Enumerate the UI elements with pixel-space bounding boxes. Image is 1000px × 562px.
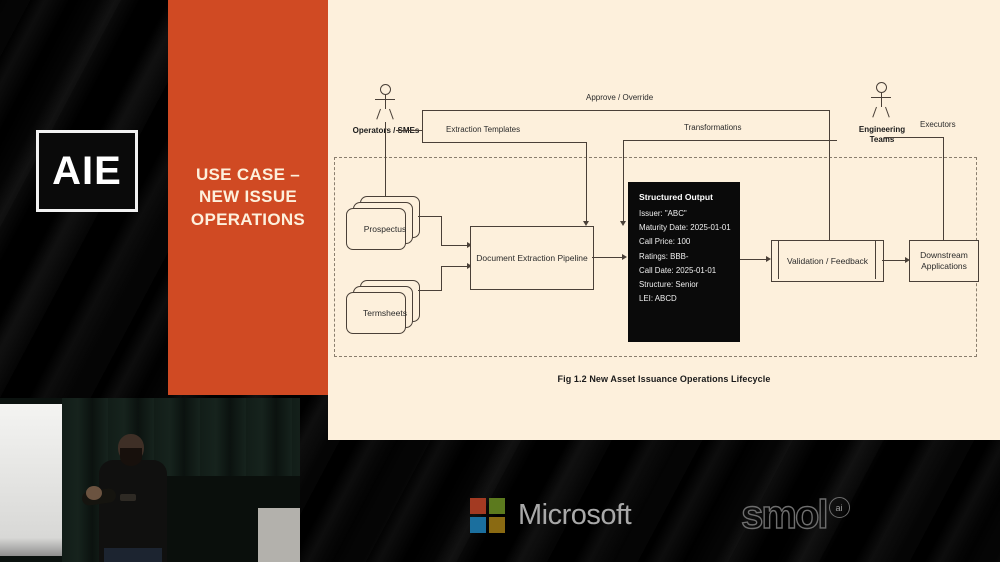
- node-downstream-applications[interactable]: Downstream Applications: [909, 240, 979, 282]
- edge-output-to-validation: [740, 259, 768, 260]
- speaker-hand: [86, 486, 102, 500]
- smol-wordmark: smol: [741, 495, 826, 535]
- smol-ai-logo: smol ai: [741, 495, 849, 535]
- edge-prospectus-v: [441, 216, 442, 245]
- smol-ai-badge: ai: [829, 497, 850, 518]
- node-downstream-label-line-1: Downstream: [920, 250, 968, 261]
- section-title: USE CASE – NEW ISSUE OPERATIONS: [185, 164, 311, 231]
- microsoft-tile-1: [470, 498, 486, 514]
- edge-approve-down: [829, 110, 830, 245]
- actor-operators-label: Operators / SMEs: [348, 126, 424, 136]
- edge-termsheets-v: [441, 266, 442, 291]
- aie-logo: AIE: [36, 130, 138, 212]
- actor-engineering-label: Engineering Teams: [840, 125, 924, 145]
- structured-output-field: Structure: Senior: [639, 280, 729, 289]
- microsoft-tile-2: [489, 498, 505, 514]
- structured-output-card: Structured Output Issuer: "ABC" Maturity…: [628, 182, 740, 342]
- structured-output-field: Ratings: BBB-: [639, 252, 729, 261]
- structured-output-field: Maturity Date: 2025-01-01: [639, 223, 729, 232]
- edge-transform-down: [623, 140, 624, 223]
- edge-approve-h: [422, 110, 830, 111]
- section-title-panel: USE CASE – NEW ISSUE OPERATIONS: [168, 0, 328, 395]
- doc-termsheets-label: Termsheets: [346, 308, 424, 318]
- slide-canvas: Operators / SMEs Engineering Teams Appro…: [328, 0, 1000, 440]
- edge-pipeline-to-output: [592, 257, 624, 258]
- speaker-beard: [120, 448, 142, 466]
- edge-prospectus-h1: [418, 216, 442, 217]
- podium: [258, 508, 300, 562]
- microsoft-tile-4: [489, 517, 505, 533]
- edge-approve-override-label: Approve / Override: [586, 93, 653, 102]
- actor-engineering-figure: [868, 82, 894, 122]
- edge-extract-h: [422, 142, 586, 143]
- figure-caption: Fig 1.2 New Asset Issuance Operations Li…: [328, 374, 1000, 384]
- microsoft-squares-icon: [470, 498, 505, 533]
- edge-approve-left-stub: [422, 110, 423, 130]
- structured-output-field: LEI: ABCD: [639, 294, 729, 303]
- actor-operators-figure: [372, 84, 398, 124]
- node-validation-label: Validation / Feedback: [787, 256, 868, 267]
- structured-output-field: Call Price: 100: [639, 237, 729, 246]
- validation-divider-left: [778, 241, 779, 279]
- validation-divider-right: [875, 241, 876, 279]
- microsoft-tile-3: [470, 517, 486, 533]
- speaker-torso: [99, 460, 167, 562]
- actor-engineering-label-line-1: Engineering: [840, 125, 924, 135]
- lifecycle-diagram: Operators / SMEs Engineering Teams Appro…: [328, 0, 1000, 440]
- edge-extract-stub-v: [422, 130, 423, 142]
- aie-logo-text: AIE: [52, 151, 122, 191]
- edge-prospectus-h2: [441, 245, 468, 246]
- arrowhead-pipeline-output: [622, 254, 627, 260]
- node-pipeline-label: Document Extraction Pipeline: [476, 253, 588, 264]
- projection-screen: [0, 404, 62, 556]
- doc-prospectus: Prospectus: [346, 196, 424, 256]
- arrowhead-transform: [620, 221, 626, 226]
- section-title-line-1: USE CASE –: [191, 164, 305, 186]
- edge-transformations-label: Transformations: [684, 123, 742, 132]
- edge-extraction-templates-label: Extraction Templates: [446, 125, 520, 134]
- edge-executors-label: Executors: [920, 120, 956, 129]
- structured-output-field: Call Date: 2025-01-01: [639, 266, 729, 275]
- sponsor-logos: Microsoft smol ai: [470, 486, 880, 544]
- speaker-webcam: [0, 398, 300, 562]
- microsoft-logo: Microsoft: [470, 498, 631, 533]
- section-title-line-3: OPERATIONS: [191, 209, 305, 231]
- node-downstream-label-line-2: Applications: [921, 261, 967, 272]
- edge-termsheets-h1: [418, 290, 442, 291]
- edge-approve-left-h: [396, 130, 423, 131]
- edge-extract-down: [586, 142, 587, 223]
- speaker-jeans: [104, 548, 162, 562]
- edge-transform-h: [623, 140, 837, 141]
- edge-executors-down: [943, 137, 944, 242]
- node-validation-feedback[interactable]: Validation / Feedback: [771, 240, 884, 282]
- edge-termsheets-h2: [441, 266, 468, 267]
- doc-prospectus-label: Prospectus: [346, 224, 424, 234]
- node-document-extraction-pipeline[interactable]: Document Extraction Pipeline: [470, 226, 594, 290]
- presentation-stream: AIE USE CASE – NEW ISSUE OPERATIONS Oper…: [0, 0, 1000, 562]
- edge-validation-to-downstream: [882, 260, 907, 261]
- structured-output-field: Issuer: "ABC": [639, 209, 729, 218]
- microsoft-wordmark: Microsoft: [518, 499, 631, 532]
- structured-output-title: Structured Output: [639, 192, 729, 202]
- doc-termsheets: Termsheets: [346, 280, 424, 340]
- edge-operators-to-docs: [385, 122, 386, 206]
- speaker-watch: [120, 494, 136, 501]
- edge-executors-h: [884, 137, 944, 138]
- section-title-line-2: NEW ISSUE: [191, 186, 305, 208]
